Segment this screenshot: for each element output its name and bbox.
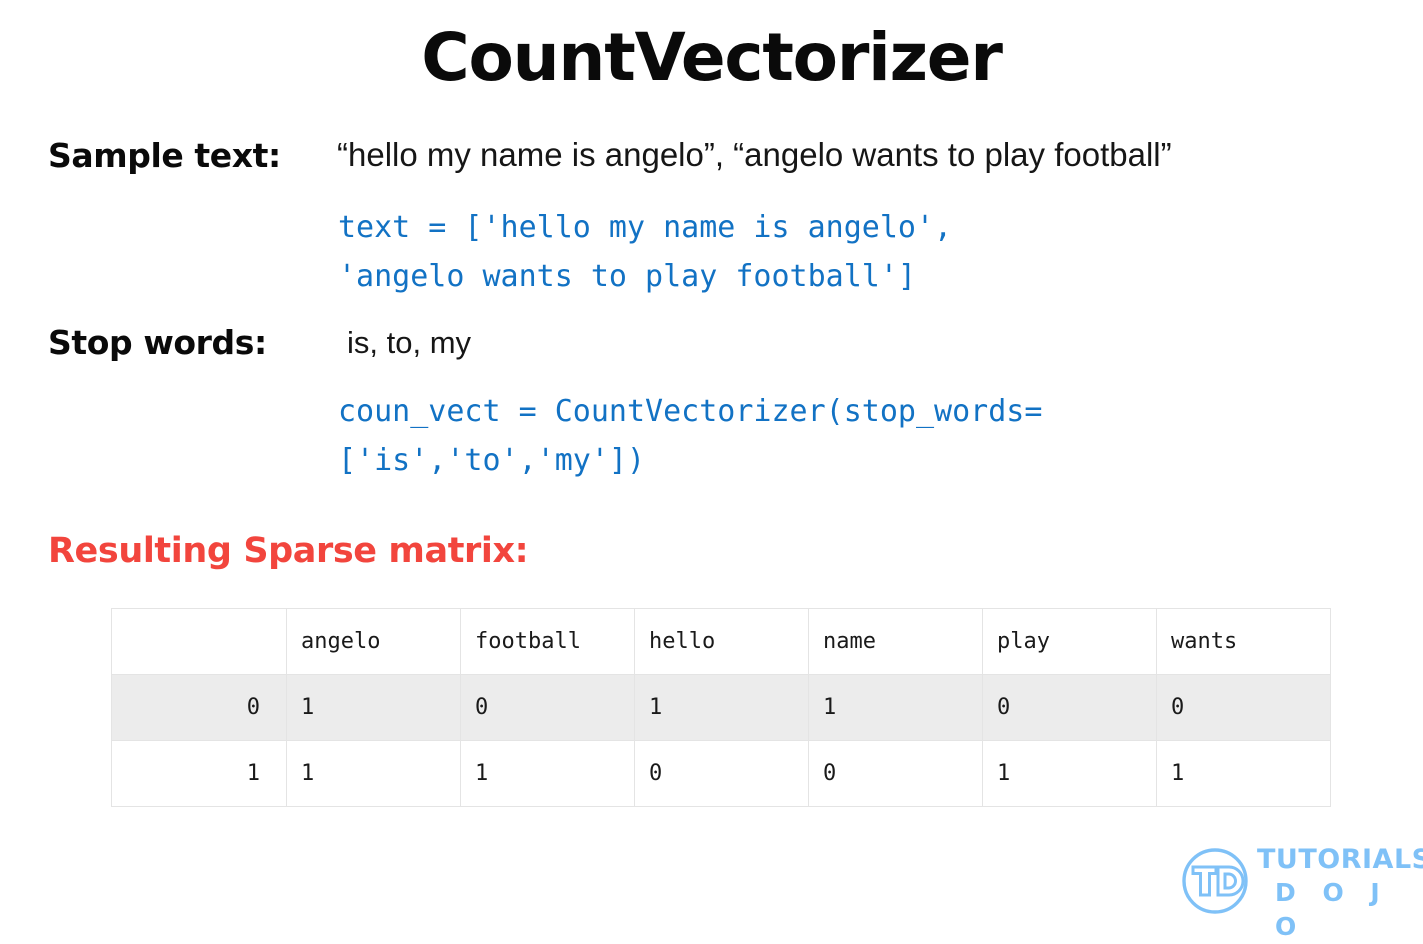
table-cell: 1 [635,675,809,741]
tutorials-dojo-logo: TUTORIALS D O J O [1179,843,1409,919]
sample-text-label: Sample text: [48,136,281,175]
stop-words-value: is, to, my [347,325,471,361]
table-header-index [112,609,287,675]
sparse-matrix-heading: Resulting Sparse matrix: [48,531,528,571]
table-header-cell: football [461,609,635,675]
table-cell: 0 [809,741,983,807]
table-cell: 1 [287,741,461,807]
table-cell: 1 [809,675,983,741]
page-title: CountVectorizer [0,22,1423,95]
sparse-matrix-table-wrapper: angelofootballhellonameplaywants 0101100… [111,608,1331,807]
table-cell: 0 [1157,675,1331,741]
sparse-matrix-table: angelofootballhellonameplaywants 0101100… [111,608,1331,807]
table-header-row: angelofootballhellonameplaywants [112,609,1331,675]
table-header-cell: hello [635,609,809,675]
table-cell: 0 [461,675,635,741]
table-cell: 0 [635,741,809,807]
sample-text-value: “hello my name is angelo”, “angelo wants… [337,136,1172,174]
table-cell: 1 [983,741,1157,807]
stop-words-label: Stop words: [48,323,267,362]
table-row: 0101100 [112,675,1331,741]
table-header-cell: play [983,609,1157,675]
code-snippet-countvectorizer: coun_vect = CountVectorizer(stop_words= … [338,387,1042,485]
table-body: 01011001110011 [112,675,1331,807]
table-header-cell: wants [1157,609,1331,675]
table-cell: 1 [1157,741,1331,807]
table-header: angelofootballhellonameplaywants [112,609,1331,675]
table-header-cell: angelo [287,609,461,675]
table-row-index: 0 [112,675,287,741]
table-cell: 1 [461,741,635,807]
code-snippet-text: text = ['hello my name is angelo', 'ange… [338,203,952,301]
td-monogram-icon [1179,845,1251,917]
table-cell: 1 [287,675,461,741]
logo-line-dojo: D O J O [1257,876,1423,944]
table-row: 1110011 [112,741,1331,807]
table-header-cell: name [809,609,983,675]
table-cell: 0 [983,675,1157,741]
logo-line-tutorials: TUTORIALS [1257,843,1423,876]
logo-wordmark: TUTORIALS D O J O [1257,843,1423,944]
table-row-index: 1 [112,741,287,807]
